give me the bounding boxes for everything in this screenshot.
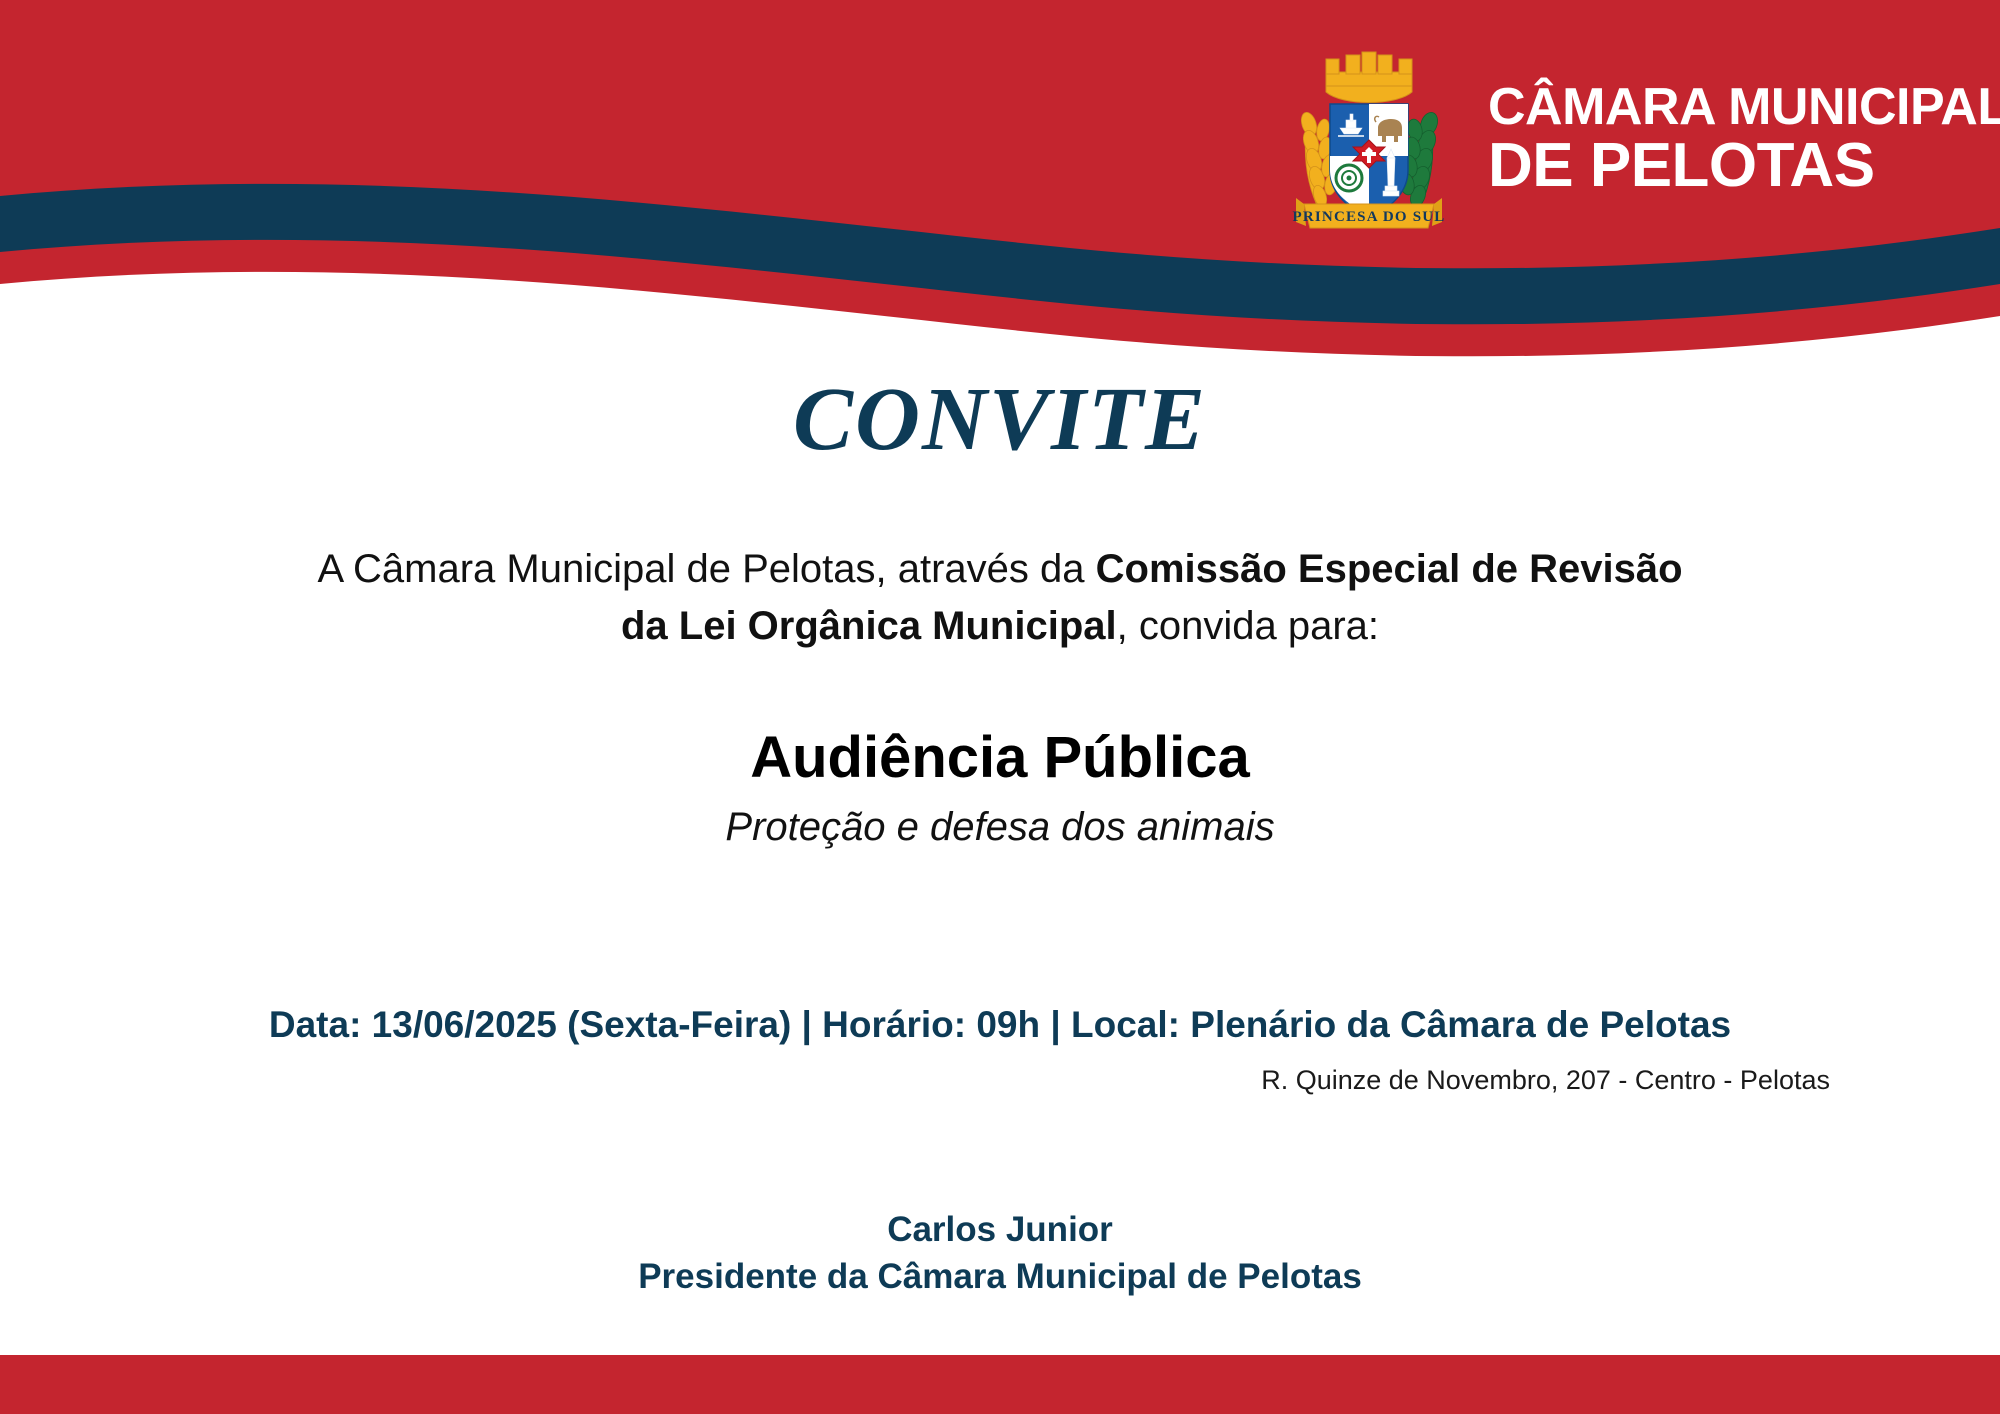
event-details-line: Data: 13/06/2025 (Sexta-Feira) | Horário…: [0, 1002, 2000, 1048]
signatory-role: Presidente da Câmara Municipal de Pelota…: [0, 1253, 2000, 1300]
signature-block: Carlos Junior Presidente da Câmara Munic…: [0, 1206, 2000, 1301]
intro-text-part1: A Câmara Municipal de Pelotas, através d…: [317, 547, 1095, 591]
intro-paragraph: A Câmara Municipal de Pelotas, através d…: [310, 541, 1690, 655]
event-subtitle: Proteção e defesa dos animais: [0, 805, 2000, 850]
poster-body: CONVITE A Câmara Municipal de Pelotas, a…: [0, 360, 2000, 1300]
intro-text-part2: , convida para:: [1117, 604, 1379, 648]
mural-crown-icon: [1326, 52, 1412, 103]
page-title: CONVITE: [0, 360, 2000, 469]
event-title: Audiência Pública: [0, 725, 2000, 792]
logo-line-de-pelotas: DE PELOTAS: [1488, 134, 2000, 197]
event-address: R. Quinze de Novembro, 207 - Centro - Pe…: [0, 1065, 1830, 1096]
wave-red-edge: [0, 240, 2000, 356]
shield-icon: [1330, 104, 1408, 218]
logo-wordmark: CÂMARA MUNICIPAL DE PELOTAS: [1488, 81, 2000, 197]
event-details-block: Data: 13/06/2025 (Sexta-Feira) | Horário…: [0, 1002, 2000, 1095]
motto-text: PRINCESA DO SUL: [1292, 209, 1445, 225]
pelotas-coat-of-arms-icon: PRINCESA DO SUL: [1290, 44, 1448, 236]
signatory-name: Carlos Junior: [0, 1206, 2000, 1253]
invitation-poster: PRINCESA DO SUL CÂMARA MUNICIPAL DE PELO…: [0, 0, 2000, 1414]
logo-line-camara-municipal: CÂMARA MUNICIPAL: [1488, 81, 2000, 134]
footer-bar: [0, 1355, 2000, 1414]
camara-logo-lockup: PRINCESA DO SUL CÂMARA MUNICIPAL DE PELO…: [1290, 42, 1990, 237]
